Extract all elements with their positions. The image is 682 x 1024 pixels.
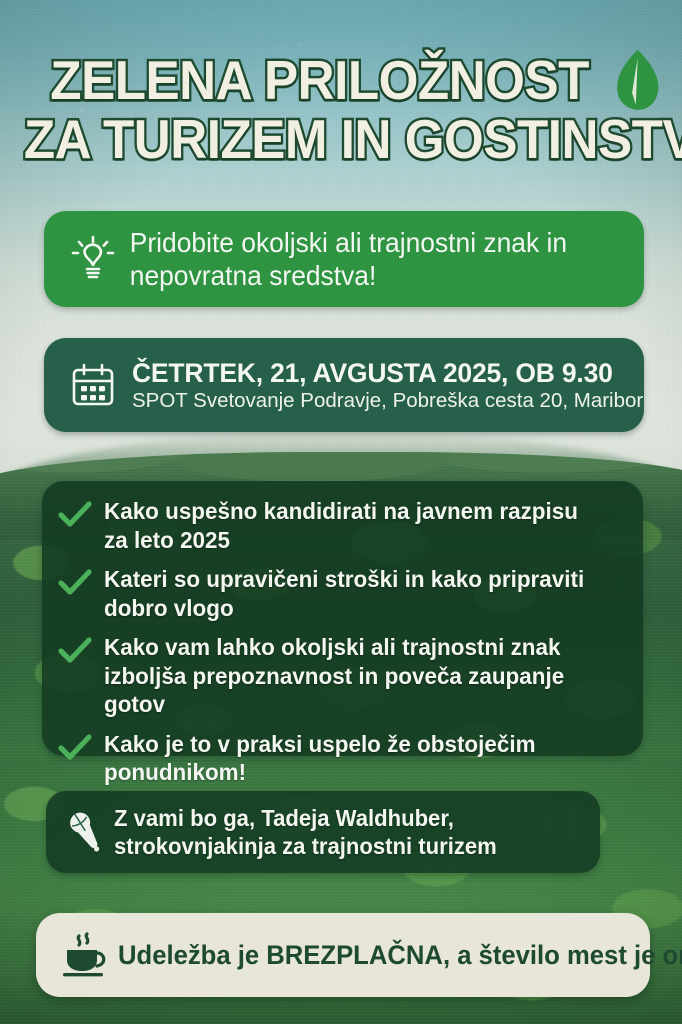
title-line-1: ZELENA PRILOŽNOST (24, 52, 658, 109)
check-icon (58, 565, 104, 602)
list-item: Kako uspešno kandidirati na javnem razpi… (58, 497, 625, 554)
list-item: Kako je to v praksi uspelo že obstoječim… (58, 730, 625, 787)
free-attendance-banner[interactable]: Udeležba je BREZPLAČNA, a število mest j… (36, 913, 650, 997)
date-banner-text: ČETRTEK, 21, AVGUSTA 2025, OB 9.30 SPOT … (124, 358, 643, 413)
list-item: Kako vam lahko okoljski ali trajnostni z… (58, 633, 625, 719)
tip-banner-text: Pridobite okoljski ali trajnostni znak i… (124, 226, 608, 292)
checklist-item-text: Kako uspešno kandidirati na javnem razpi… (104, 497, 602, 554)
speaker-banner[interactable]: Z vami bo ga, Tadeja Waldhuber, strokovn… (46, 791, 600, 873)
date-banner[interactable]: ČETRTEK, 21, AVGUSTA 2025, OB 9.30 SPOT … (44, 338, 644, 432)
title-line-2: ZA TURIZEM IN GOSTINSTVO! (24, 111, 658, 168)
poster-content: ZELENA PRILOŽNOST ZA TURIZEM IN GOSTINST… (0, 0, 682, 1024)
leaf-icon (613, 48, 661, 110)
list-item: Kateri so upravičeni stroški in kako pri… (58, 565, 625, 622)
title-line-1-text: ZELENA PRILOŽNOST (50, 49, 589, 111)
speaker-banner-text: Z vami bo ga, Tadeja Waldhuber, strokovn… (114, 804, 567, 860)
checklist-item-text: Kako je to v praksi uspelo že obstoječim… (104, 730, 602, 787)
free-banner-text: Udeležba je BREZPLAČNA, a število mest j… (118, 939, 682, 971)
microphone-icon (58, 808, 114, 856)
checklist-item-text: Kako vam lahko okoljski ali trajnostni z… (104, 633, 602, 719)
checklist-panel: Kako uspešno kandidirati na javnem razpi… (42, 481, 643, 756)
check-icon (58, 497, 104, 534)
check-icon (58, 730, 104, 767)
tip-banner[interactable]: Pridobite okoljski ali trajnostni znak i… (44, 211, 644, 307)
date-headline: ČETRTEK, 21, AVGUSTA 2025, OB 9.30 (132, 358, 613, 388)
check-icon (58, 633, 104, 670)
checklist-item-text: Kateri so upravičeni stroški in kako pri… (104, 565, 602, 622)
poster-canvas: ZELENA PRILOŽNOST ZA TURIZEM IN GOSTINST… (0, 0, 682, 1024)
date-location: SPOT Svetovanje Podravje, Pobreška cesta… (132, 389, 643, 412)
poster-title: ZELENA PRILOŽNOST ZA TURIZEM IN GOSTINST… (0, 52, 682, 168)
coffee-cup-icon (52, 930, 118, 980)
calendar-icon (62, 360, 124, 410)
lightbulb-icon (62, 233, 124, 285)
